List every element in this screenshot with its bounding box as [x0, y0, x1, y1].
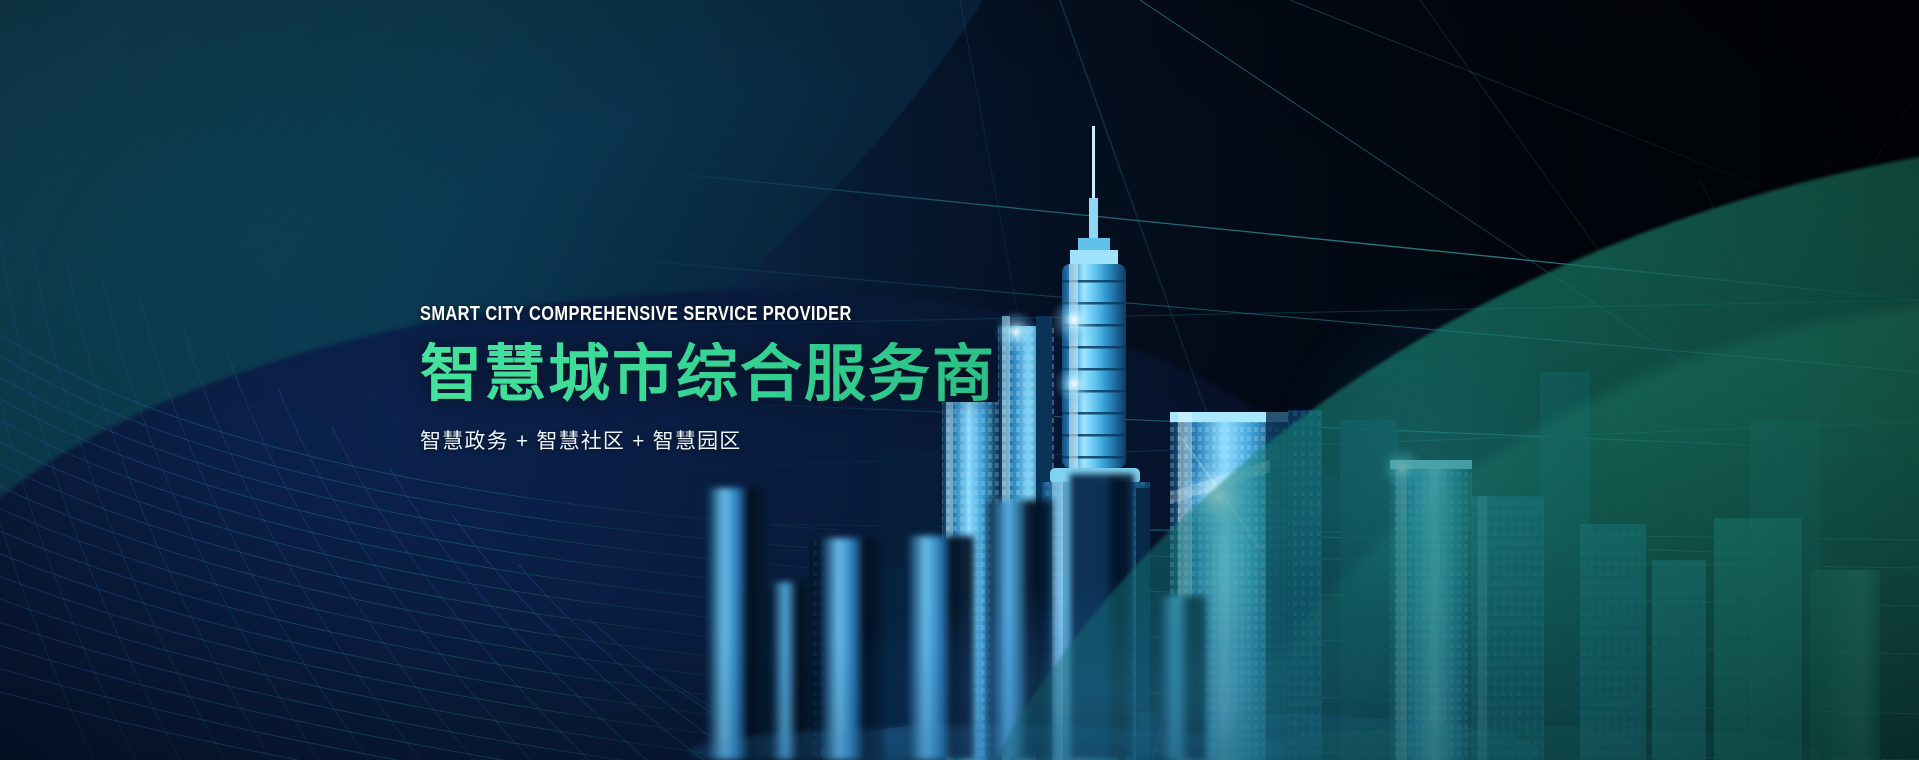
smart-city-hero-banner: SMART CITY COMPREHENSIVE SERVICE PROVIDE…: [0, 0, 1919, 760]
hero-copy-block: SMART CITY COMPREHENSIVE SERVICE PROVIDE…: [420, 304, 996, 452]
banner-eyebrow-english: SMART CITY COMPREHENSIVE SERVICE PROVIDE…: [420, 304, 892, 324]
banner-headline: 智慧城市综合服务商: [420, 342, 996, 409]
banner-subline: 智慧政务 + 智慧社区 + 智慧园区: [420, 431, 996, 452]
